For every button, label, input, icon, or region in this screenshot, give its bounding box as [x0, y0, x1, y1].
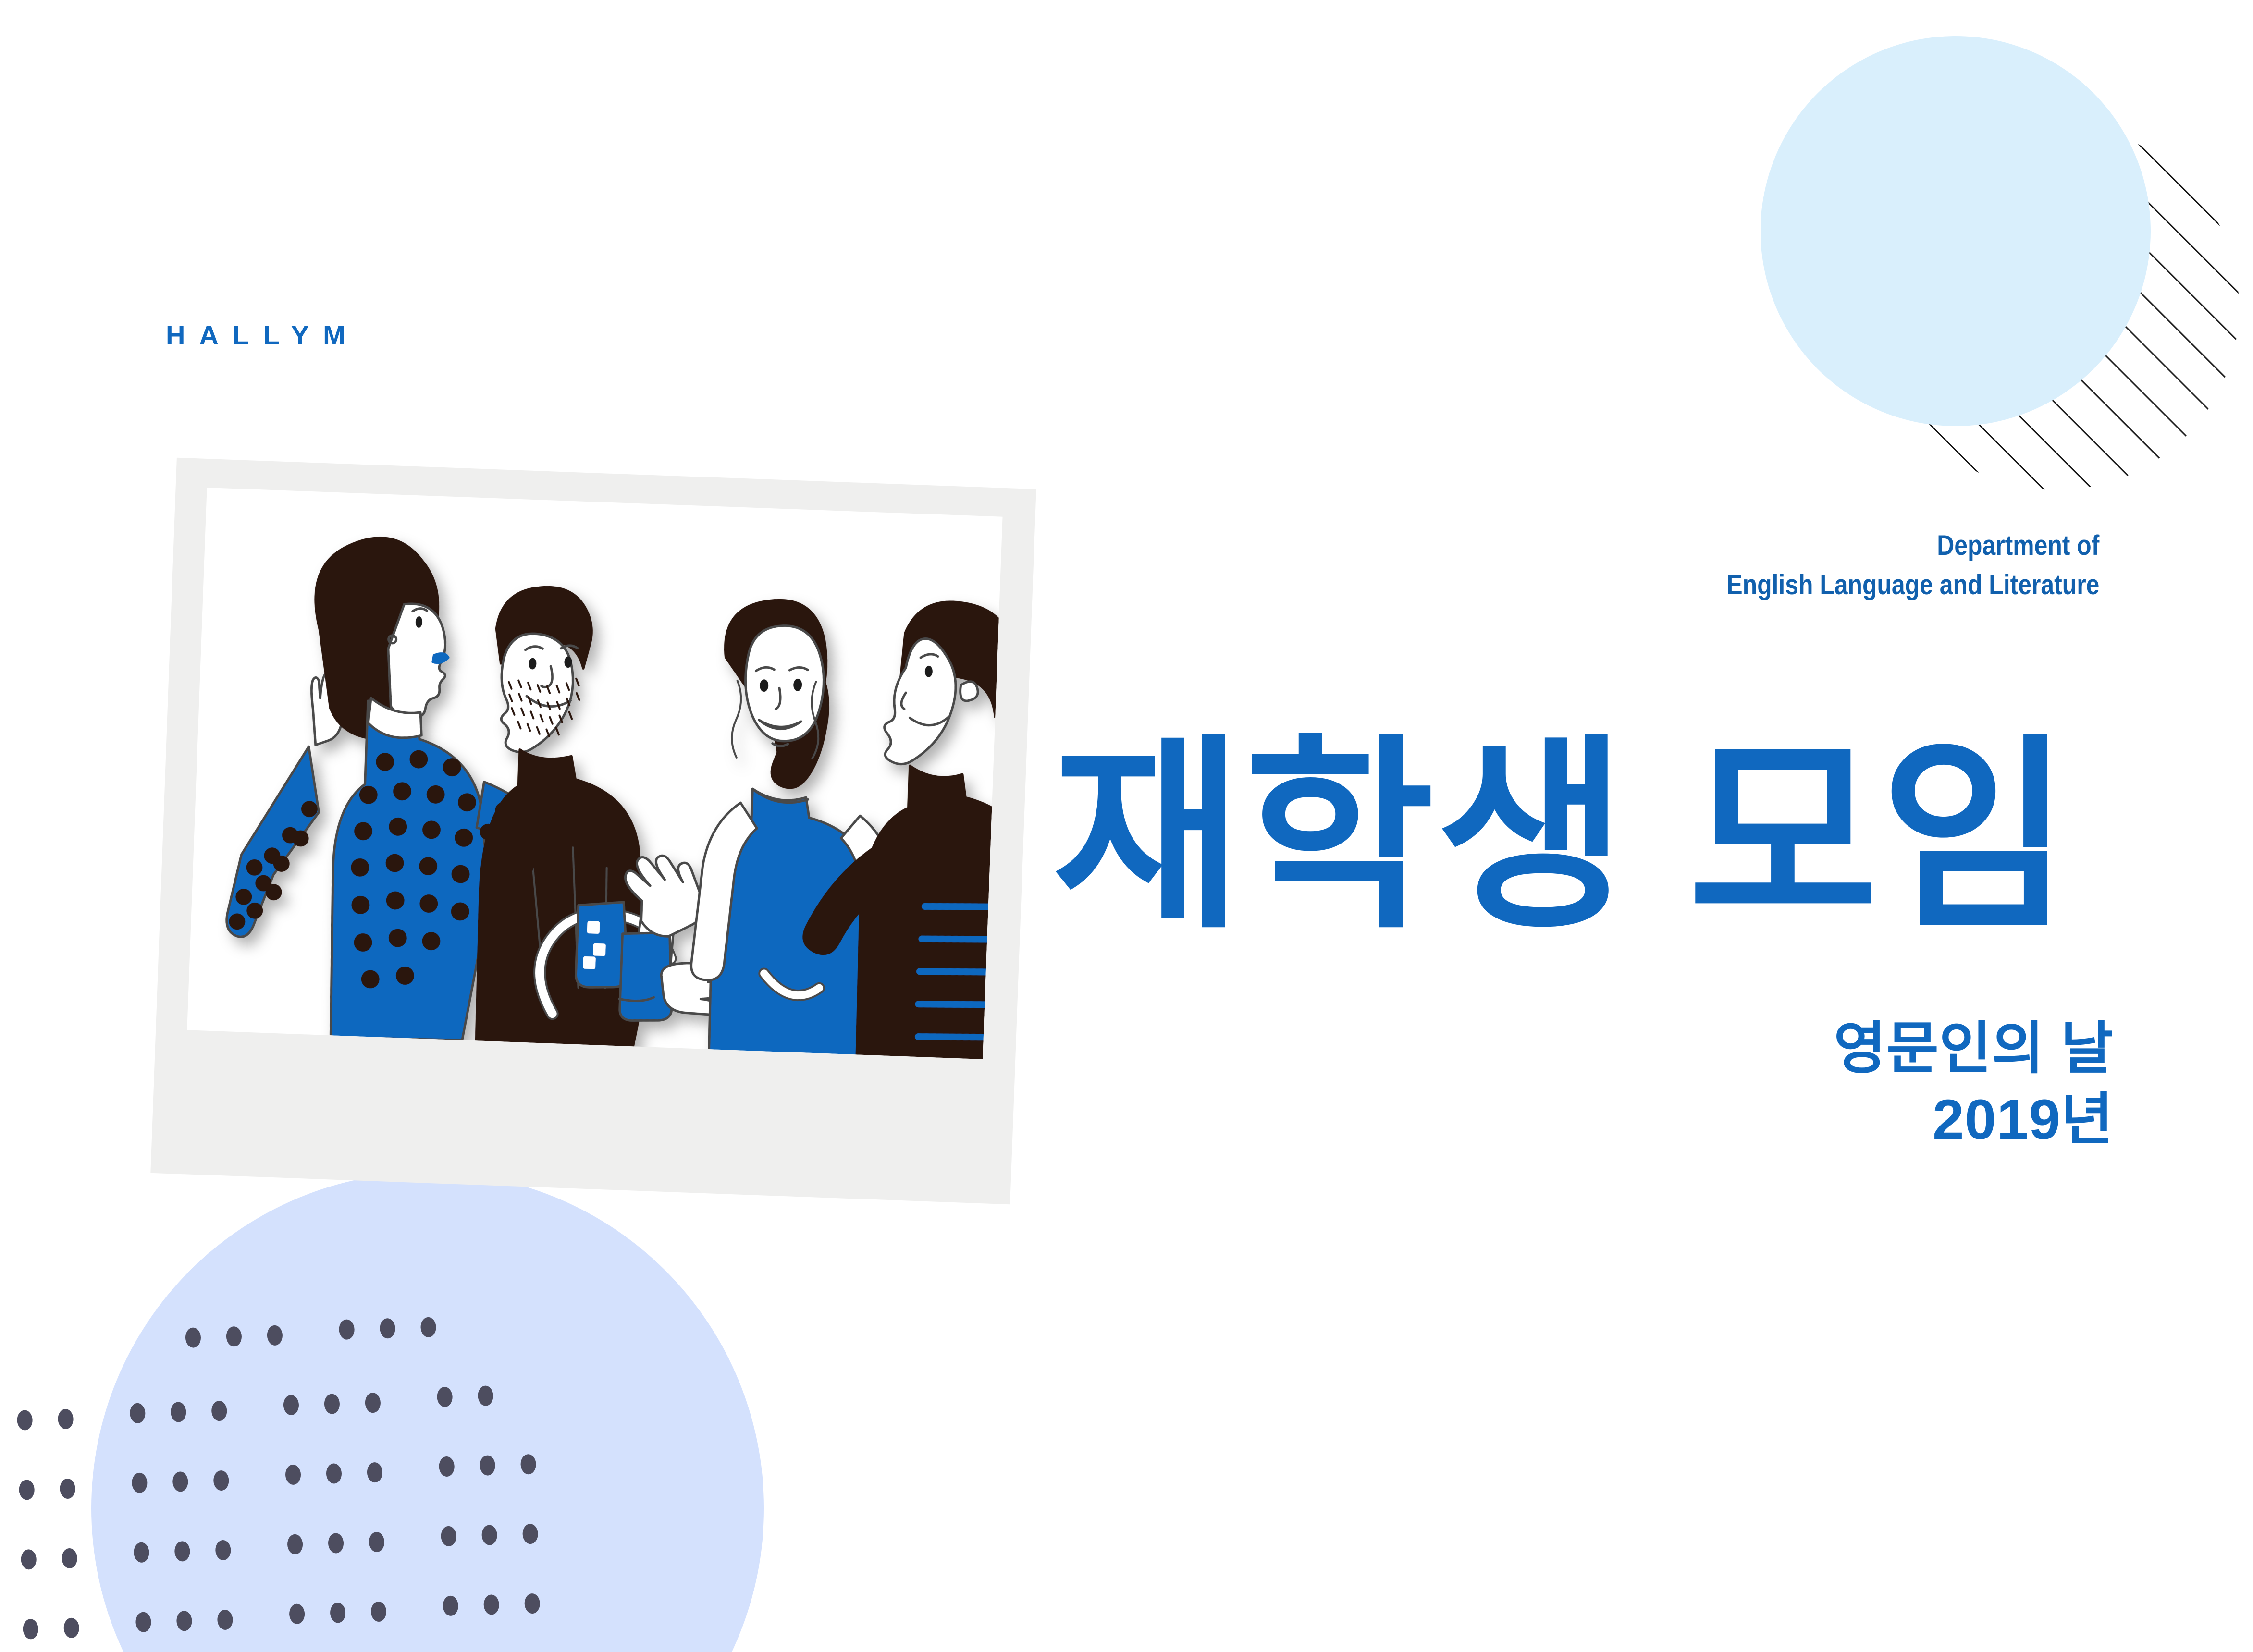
dot-grid-decoration	[0, 1292, 577, 1652]
subtitle-line-1: 영문인의 날	[1834, 1014, 2114, 1085]
subtitle-line-2: 2019년	[1834, 1085, 2114, 1156]
department-line-2: English Language and Literature	[1726, 565, 2099, 605]
department-line-1: Department of	[1726, 526, 2099, 565]
slide-canvas: HALLYM Department of English Language an…	[0, 0, 2253, 1652]
hallym-wordmark: HALLYM	[166, 319, 359, 351]
department-block: Department of English Language and Liter…	[1726, 526, 2099, 605]
polaroid-photo-area	[187, 488, 1002, 1059]
polaroid-photo	[150, 458, 1036, 1205]
page-title: 재학생 모임	[1052, 734, 2143, 940]
lightblue-circle-decoration	[1761, 36, 2151, 426]
subtitle-block: 영문인의 날 2019년	[1834, 1014, 2114, 1155]
